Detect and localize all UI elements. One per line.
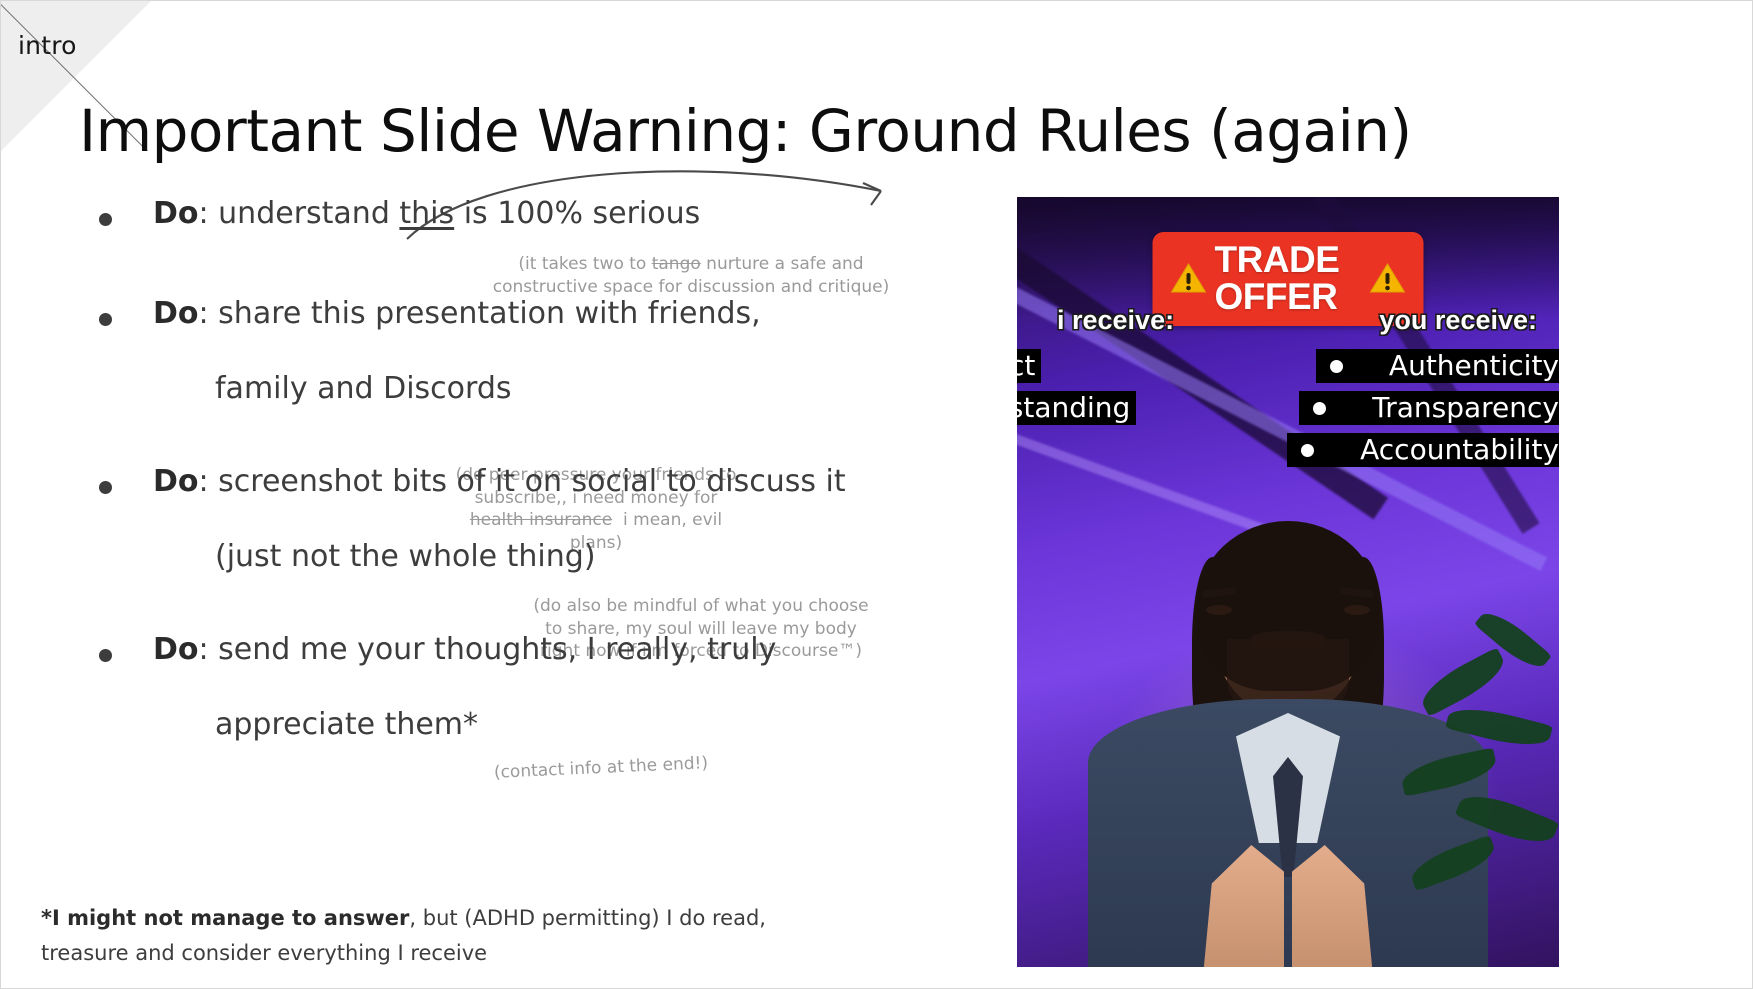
leaf: [1399, 747, 1499, 796]
bullet-dot-icon: [1313, 402, 1326, 415]
you-receive-heading: you receive:: [1379, 305, 1537, 336]
bullet-4-text: Do: send me your thoughts, I really, tru…: [153, 635, 776, 665]
i-receive-list: Respect Understanding Trust: [1017, 349, 1136, 475]
strikethrough-tango: tango: [652, 254, 701, 274]
bullet-dot-icon: [99, 313, 112, 326]
bullet-1-note: (it takes two to tango nurture a safe an…: [491, 253, 891, 298]
footnote-rest: , but (ADHD permitting) I do read,: [409, 906, 766, 930]
bullet-1-text: Do: understand this is 100% serious: [153, 199, 700, 229]
list-item: Transparency: [1299, 391, 1559, 425]
footnote: *I might not manage to answer, but (ADHD…: [41, 901, 821, 972]
trade-offer-label: TRADE OFFER: [1215, 241, 1362, 315]
footnote-bold: *I might not manage to answer: [41, 906, 409, 930]
bullet-dot-icon: [99, 649, 112, 662]
bullet-dot-icon: [1330, 360, 1343, 373]
bullet-item-2: Do: share this presentation with friends…: [91, 299, 761, 329]
list-item: Respect: [1017, 349, 1041, 383]
list-item-label: Authenticity: [1389, 352, 1559, 380]
leaf: [1415, 647, 1510, 717]
bullet-1-underlined: this: [399, 196, 454, 231]
bullet-dot-icon: [99, 481, 112, 494]
bullet-1-before: understand: [218, 196, 399, 231]
list-item-label: Respect: [1017, 352, 1035, 380]
list-item-label: Transparency: [1372, 394, 1559, 422]
list-item: Understanding: [1017, 391, 1136, 425]
bullet-1-colon: :: [199, 196, 219, 231]
bullet-1-prefix: Do: [153, 196, 199, 231]
bullet-3-note-line-1: (do also be mindful of what you choose: [531, 595, 871, 618]
bullet-item-3: Do: screenshot bits of it on social to d…: [91, 467, 846, 497]
list-item-label: Understanding: [1017, 394, 1130, 422]
bullet-3-text: Do: screenshot bits of it on social to d…: [153, 467, 846, 497]
bullet-3-colon: :: [199, 464, 219, 499]
leaf: [1407, 835, 1499, 891]
bullet-4-line2: appreciate them*: [215, 707, 478, 742]
bullet-3-body: screenshot bits of it on social to discu…: [218, 464, 845, 499]
bullet-3-line2: (just not the whole thing): [215, 539, 596, 574]
list-item-label: Accountability: [1360, 436, 1559, 464]
bullet-4-colon: :: [199, 632, 219, 667]
hand-right: [1292, 845, 1378, 967]
house-plant: [1387, 627, 1559, 927]
bullet-item-4: Do: send me your thoughts, I really, tru…: [91, 635, 776, 665]
bullet-dot-icon: [1301, 444, 1314, 457]
list-item: Authenticity: [1316, 349, 1559, 383]
bullet-1-note-line-1: (it takes two to tango nurture a safe an…: [491, 253, 891, 276]
bullet-4-note: (contact info at the end!): [486, 752, 717, 785]
list-item: Accountability: [1287, 433, 1559, 467]
bullet-dot-icon: [99, 213, 112, 226]
leaf: [1445, 701, 1553, 753]
i-receive-heading: i receive:: [1057, 305, 1174, 336]
bullet-2-text: Do: share this presentation with friends…: [153, 299, 761, 329]
bullet-item-1: Do: understand this is 100% serious (it …: [91, 199, 700, 229]
eye-left: [1206, 605, 1232, 615]
eye-right: [1344, 605, 1370, 615]
section-tab-label: intro: [18, 31, 77, 60]
bullet-3-prefix: Do: [153, 464, 199, 499]
bullet-2-body: share this presentation with friends,: [218, 296, 761, 331]
steepled-hands: [1198, 843, 1378, 967]
bullet-4-prefix: Do: [153, 632, 199, 667]
bullet-2-line2: family and Discords: [215, 371, 512, 406]
bullet-2-prefix: Do: [153, 296, 199, 331]
page-title: Important Slide Warning: Ground Rules (a…: [79, 97, 1412, 165]
slide-canvas: intro Important Slide Warning: Ground Ru…: [0, 0, 1753, 989]
warning-icon: [1370, 262, 1406, 294]
bullet-2-colon: :: [199, 296, 219, 331]
bullet-1-after: is 100% serious: [454, 196, 700, 231]
strikethrough-health-insurance: health insurance: [470, 510, 612, 530]
bullet-4-note-line-1: (contact info at the end!): [486, 752, 717, 785]
hand-left: [1198, 845, 1284, 967]
warning-icon: [1171, 262, 1207, 294]
trade-offer-meme-image: TRADE OFFER i receive: you receive: Resp…: [1017, 197, 1559, 967]
bullet-1-note-line-2: constructive space for discussion and cr…: [491, 276, 891, 299]
footnote-line2: treasure and consider everything I recei…: [41, 941, 487, 965]
you-receive-list: Authenticity Transparency Accountability: [1287, 349, 1559, 475]
bullet-4-body: send me your thoughts, I really, truly: [218, 632, 776, 667]
